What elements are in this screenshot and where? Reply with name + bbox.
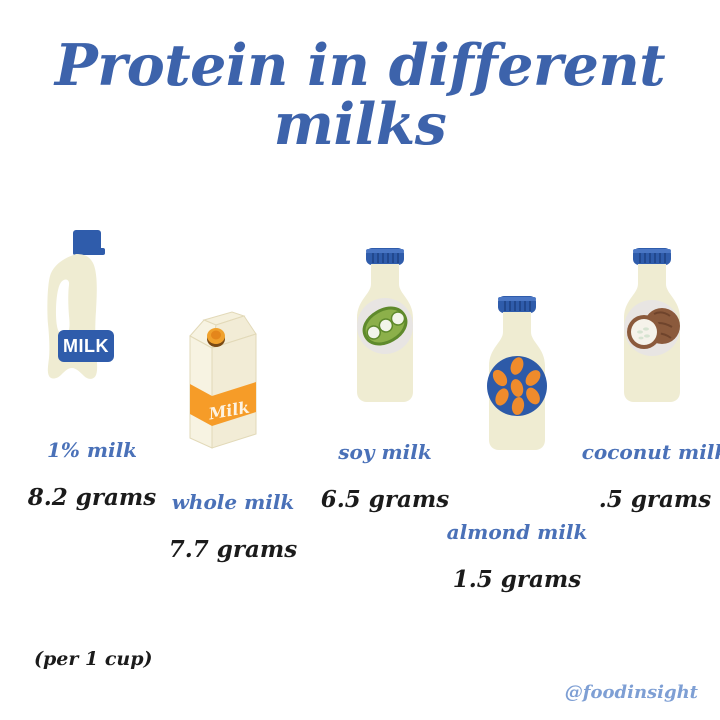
coconut-milk-bottle-icon bbox=[600, 244, 710, 424]
illustration-coconut-bottle bbox=[600, 244, 710, 428]
milk-name-almond-milk: almond milk bbox=[387, 520, 647, 544]
soy-milk-bottle-icon bbox=[330, 244, 440, 424]
milk-amount-whole-milk: 7.7 grams bbox=[103, 536, 363, 563]
milk-item-one-percent-milk: MILK 1% milk 8.2 grams bbox=[32, 228, 152, 422]
milk-amount-almond-milk: 1.5 grams bbox=[387, 566, 647, 593]
title-line-2: milks bbox=[0, 95, 720, 154]
milk-amount-soy-milk: 6.5 grams bbox=[255, 486, 515, 513]
serving-footnote: (per 1 cup) bbox=[34, 648, 152, 670]
caption-almond-milk: almond milk 1.5 grams bbox=[387, 520, 647, 593]
title-line-1: Protein in different bbox=[0, 36, 720, 95]
jug-milk-label: MILK bbox=[58, 330, 114, 362]
milk-amount-coconut-milk: .5 grams bbox=[525, 486, 720, 513]
bottle-cap-icon bbox=[498, 296, 536, 313]
milk-item-soy-milk: soy milk 6.5 grams bbox=[330, 244, 440, 428]
bottle-cap-icon bbox=[633, 248, 671, 265]
illustration-plastic-jug: MILK bbox=[32, 228, 152, 422]
infographic-canvas: Protein in different milks MILK 1% milk bbox=[0, 0, 720, 720]
milk-item-coconut-milk: coconut milk .5 grams bbox=[600, 244, 710, 428]
carton-cap-icon bbox=[207, 328, 225, 347]
illustration-soy-bottle bbox=[330, 244, 440, 428]
plastic-jug-icon: MILK bbox=[32, 228, 152, 418]
caption-coconut-milk: coconut milk .5 grams bbox=[525, 440, 720, 513]
page-title: Protein in different milks bbox=[0, 36, 720, 155]
jug-milk-label-text: MILK bbox=[63, 336, 109, 356]
milk-name-coconut-milk: coconut milk bbox=[525, 440, 720, 464]
bottle-cap-icon bbox=[366, 248, 404, 265]
brand-watermark: @foodinsight bbox=[565, 682, 698, 703]
